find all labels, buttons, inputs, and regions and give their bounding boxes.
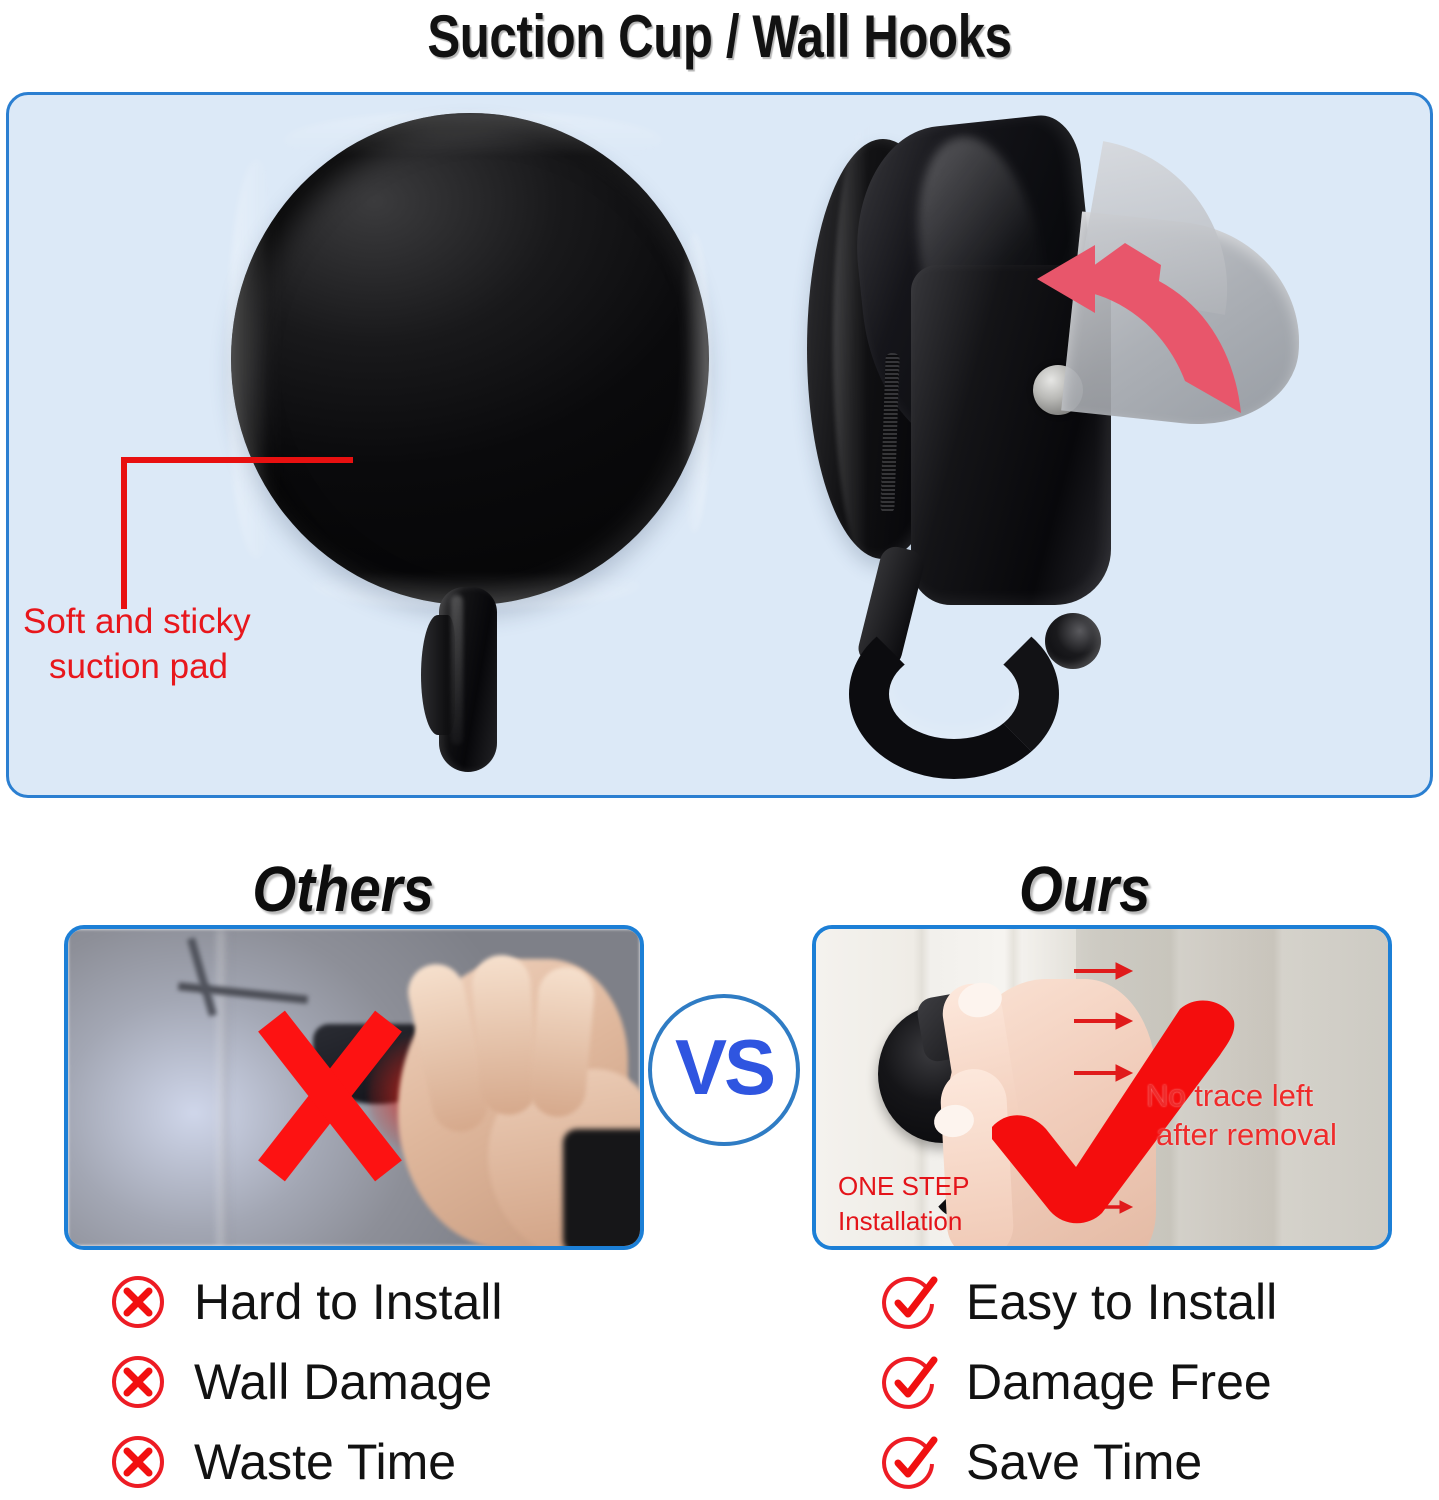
list-item-label: Hard to Install — [194, 1273, 502, 1331]
j-hook — [843, 547, 1103, 797]
others-feature-list: Hard to Install Wall Damage Waste Time — [110, 1262, 502, 1500]
others-heading: Others — [252, 852, 434, 926]
one-step-line-2: Installation — [838, 1206, 962, 1236]
list-item: Save Time — [882, 1422, 1277, 1500]
hook-gloss — [451, 595, 463, 745]
page-title: Suction Cup / Wall Hooks — [130, 2, 1310, 71]
curved-press-arrow-icon — [1029, 235, 1259, 420]
leader-line-horizontal — [121, 457, 353, 463]
dark-sleeve — [563, 1129, 644, 1250]
annotation-line-2: suction pad — [23, 645, 323, 690]
no-trace-caption: No trace left after removal — [1146, 1077, 1337, 1155]
versus-badge: VS — [648, 994, 800, 1146]
suction-cup-side-view — [771, 115, 1241, 795]
list-item-label: Easy to Install — [966, 1273, 1277, 1331]
no-trace-line-1: No trace left — [1146, 1078, 1313, 1113]
one-step-line-1: ONE STEP — [838, 1171, 969, 1201]
circled-check-icon — [882, 1354, 938, 1410]
one-step-caption: ONE STEP Installation — [838, 1169, 969, 1239]
hook-side-nub — [421, 615, 455, 735]
ours-feature-list: Easy to Install Damage Free Save Time — [882, 1262, 1277, 1500]
versus-label: VS — [675, 1022, 773, 1113]
list-item: Wall Damage — [110, 1342, 502, 1422]
j-hook-curve — [849, 609, 1059, 779]
leader-line-vertical — [121, 457, 127, 609]
ours-photo: ONE STEP Installation No trace left afte… — [812, 925, 1392, 1250]
circled-x-icon — [110, 1274, 166, 1330]
list-item-label: Wall Damage — [194, 1353, 492, 1411]
hook-front-edge — [421, 587, 513, 779]
list-item-label: Waste Time — [194, 1433, 456, 1491]
no-trace-line-2: after removal — [1146, 1116, 1337, 1155]
list-item-label: Save Time — [966, 1433, 1202, 1491]
list-item: Easy to Install — [882, 1262, 1277, 1342]
list-item: Damage Free — [882, 1342, 1277, 1422]
infographic-root: Suction Cup / Wall Hooks — [0, 0, 1439, 1500]
annotation-leader-line — [113, 457, 353, 609]
circled-check-icon — [882, 1274, 938, 1330]
red-x-overlay-icon — [220, 1001, 440, 1191]
circled-x-icon — [110, 1434, 166, 1490]
suction-pad-annotation: Soft and sticky suction pad — [23, 600, 323, 690]
list-item: Waste Time — [110, 1422, 502, 1500]
circled-check-icon — [882, 1434, 938, 1490]
others-photo — [64, 925, 644, 1250]
annotation-line-1: Soft and sticky — [23, 602, 251, 641]
circled-x-icon — [110, 1354, 166, 1410]
ours-heading: Ours — [1019, 852, 1150, 926]
disc-highlight-right — [677, 233, 711, 533]
disc-highlight-top — [283, 111, 663, 171]
list-item: Hard to Install — [110, 1262, 502, 1342]
hero-product-panel: Soft and sticky suction pad — [6, 92, 1433, 798]
list-item-label: Damage Free — [966, 1353, 1272, 1411]
j-hook-ball-tip — [1045, 613, 1101, 669]
